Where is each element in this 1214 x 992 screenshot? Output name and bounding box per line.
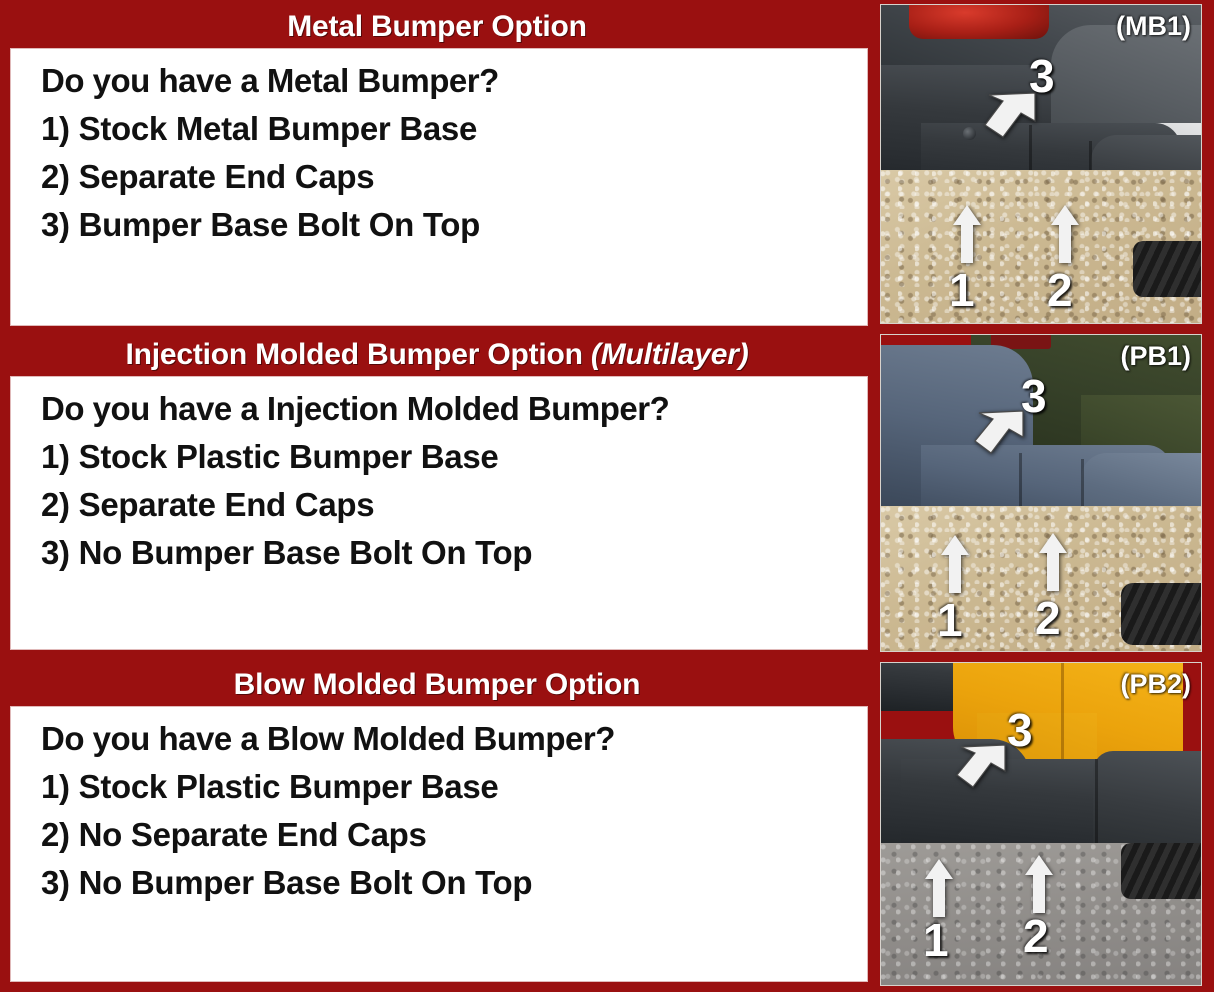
photo-callout-3: 3 xyxy=(1021,373,1047,419)
arrow-1-icon xyxy=(925,859,953,915)
panel-header-blow: Blow Molded Bumper Option xyxy=(0,670,874,700)
photo-callout-1: 1 xyxy=(923,917,949,963)
panel-blow-molded-bumper: Blow Molded Bumper Option Do you have a … xyxy=(0,658,1214,992)
panel-question: Do you have a Injection Molded Bumper? xyxy=(41,385,867,433)
bumper-option-chart: Metal Bumper Option Do you have a Metal … xyxy=(0,0,1214,992)
photo-callout-3: 3 xyxy=(1007,707,1033,753)
panel-question: Do you have a Blow Molded Bumper? xyxy=(41,715,867,763)
panel-question: Do you have a Metal Bumper? xyxy=(41,57,867,105)
photo-scene-mb1: 3 1 2 xyxy=(881,5,1201,323)
panel-item-1: 1) Stock Plastic Bumper Base xyxy=(41,763,867,811)
arrow-3-icon xyxy=(965,407,1027,459)
photo-mb1: 3 1 2 (MB1) xyxy=(880,4,1202,324)
photo-pb1: 3 1 2 (PB1) xyxy=(880,334,1202,652)
panel-injection-molded-bumper: Injection Molded Bumper Option (Multilay… xyxy=(0,330,1214,658)
panel-textbox-metal: Do you have a Metal Bumper? 1) Stock Met… xyxy=(10,48,868,326)
photo-callout-1: 1 xyxy=(949,267,975,313)
panel-item-3: 3) Bumper Base Bolt On Top xyxy=(41,201,867,249)
arrow-3-icon xyxy=(947,741,1009,793)
photo-callout-2: 2 xyxy=(1023,913,1049,959)
panel-header-title: Injection Molded Bumper Option xyxy=(125,338,582,371)
arrow-1-icon xyxy=(941,535,969,593)
panel-item-3: 3) No Bumper Base Bolt On Top xyxy=(41,529,867,577)
photo-code-label: (PB2) xyxy=(1120,669,1191,699)
photo-code-label: (MB1) xyxy=(1116,11,1191,41)
photo-callout-2: 2 xyxy=(1047,267,1073,313)
panel-header-title: Metal Bumper Option xyxy=(287,10,587,43)
panel-textbox-injection: Do you have a Injection Molded Bumper? 1… xyxy=(10,376,868,650)
photo-scene-pb1: 3 1 2 xyxy=(881,335,1201,651)
panel-item-2: 2) No Separate End Caps xyxy=(41,811,867,859)
arrow-2-icon xyxy=(1039,533,1067,591)
panel-textbox-blow: Do you have a Blow Molded Bumper? 1) Sto… xyxy=(10,706,868,982)
panel-metal-bumper: Metal Bumper Option Do you have a Metal … xyxy=(0,0,1214,330)
arrow-1-icon xyxy=(953,205,981,263)
panel-item-3: 3) No Bumper Base Bolt On Top xyxy=(41,859,867,907)
panel-item-2: 2) Separate End Caps xyxy=(41,153,867,201)
photo-callout-1: 1 xyxy=(937,597,963,643)
photo-pb2: 3 1 2 (PB2) xyxy=(880,662,1202,986)
arrow-2-icon xyxy=(1051,205,1079,263)
panel-item-2: 2) Separate End Caps xyxy=(41,481,867,529)
panel-header-italic-suffix: (Multilayer) xyxy=(591,338,749,371)
photo-callout-3: 3 xyxy=(1029,53,1055,99)
panel-item-1: 1) Stock Metal Bumper Base xyxy=(41,105,867,153)
panel-header-title: Blow Molded Bumper Option xyxy=(234,668,641,701)
photo-scene-pb2: 3 1 2 xyxy=(881,663,1201,985)
panel-header-metal: Metal Bumper Option xyxy=(0,12,874,42)
photo-callout-2: 2 xyxy=(1035,595,1061,641)
panel-item-1: 1) Stock Plastic Bumper Base xyxy=(41,433,867,481)
arrow-2-icon xyxy=(1025,855,1053,911)
panel-header-injection: Injection Molded Bumper Option (Multilay… xyxy=(0,340,874,370)
photo-code-label: (PB1) xyxy=(1120,341,1191,371)
